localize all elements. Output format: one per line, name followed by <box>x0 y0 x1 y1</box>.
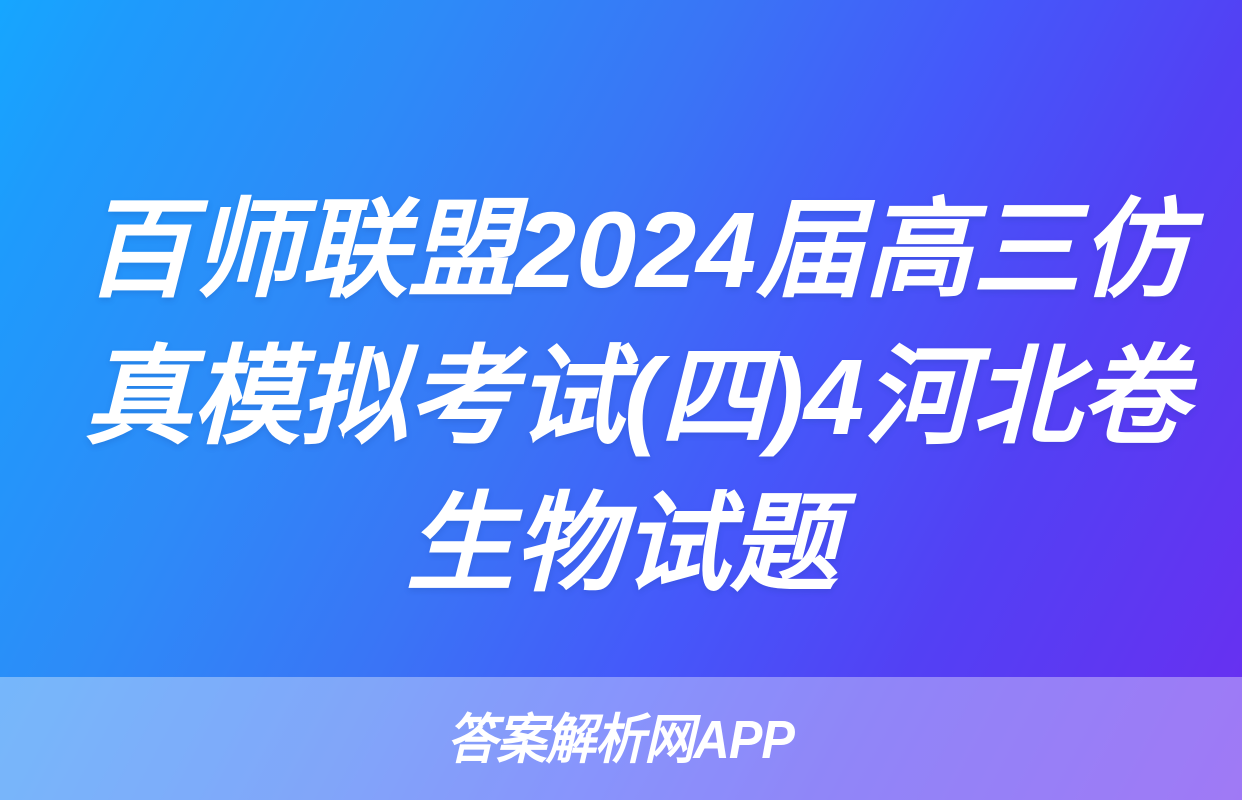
title-line-2: 真 模 拟 考 试(四)4 河 北 卷 <box>84 323 1160 470</box>
page-title: 百 师 联 盟 2024届 高 三 仿 真 模 拟 考 试(四)4 河 北 卷 … <box>84 176 1160 617</box>
title-char: 考 <box>408 323 516 470</box>
title-char: 卷 <box>1080 323 1188 470</box>
title-char: 高 <box>864 176 972 323</box>
title-char: 拟 <box>300 323 408 470</box>
title-char: 仿 <box>1080 176 1188 323</box>
title-line-3: 生物试题 <box>84 470 1160 617</box>
watermark-band: 答案解析网APP <box>0 677 1242 800</box>
title-char: 北 <box>972 323 1080 470</box>
title-char: 百 <box>84 176 192 323</box>
title-char: 三 <box>972 176 1080 323</box>
title-char: 真 <box>84 323 192 470</box>
title-char: 盟 <box>408 176 516 323</box>
title-char: 试(四)4 <box>516 323 864 470</box>
app-watermark: 答案解析网APP <box>448 713 795 767</box>
title-line-1: 百 师 联 盟 2024届 高 三 仿 <box>84 176 1160 323</box>
title-char: 河 <box>864 323 972 470</box>
banner-page: 百 师 联 盟 2024届 高 三 仿 真 模 拟 考 试(四)4 河 北 卷 … <box>0 0 1242 800</box>
hero-section: 百 师 联 盟 2024届 高 三 仿 真 模 拟 考 试(四)4 河 北 卷 … <box>0 0 1242 677</box>
title-char: 联 <box>300 176 408 323</box>
title-char: 模 <box>192 323 300 470</box>
title-char: 师 <box>192 176 300 323</box>
title-char: 2024届 <box>516 176 864 323</box>
